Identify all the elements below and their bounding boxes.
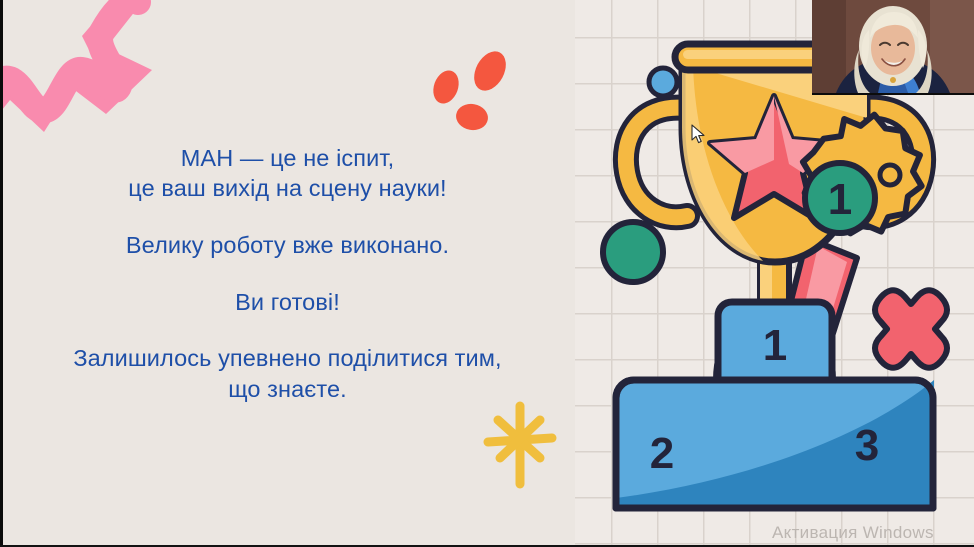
- green-circle-icon: [603, 222, 663, 282]
- slide-paragraph-4: Залишилось упевнено поділитися тим, що з…: [73, 343, 501, 404]
- slide-paragraph-1: МАН — це не іспит, це ваш вихід на сцену…: [128, 143, 446, 204]
- podium-place-1-label: 1: [763, 321, 787, 370]
- pink-squiggle-decoration: [0, 0, 176, 142]
- red-cross-icon: [875, 290, 947, 368]
- slide-paragraph-3: Ви готові!: [235, 287, 340, 318]
- podium-place-2-label: 2: [650, 429, 674, 478]
- presentation-slide: МАН — це не іспит, це ваш вихід на сцену…: [0, 0, 974, 547]
- participant-video-frame: [812, 0, 974, 93]
- orange-dot-icon: [429, 67, 463, 107]
- podium-place-3-label: 3: [855, 421, 879, 470]
- svg-text:1: 1: [828, 175, 852, 224]
- blue-dot-icon: [649, 68, 677, 96]
- participant-video-thumbnail[interactable]: [812, 0, 974, 95]
- orange-dot-icon: [468, 46, 512, 96]
- orange-dot-icon: [454, 101, 490, 132]
- slide-paragraph-2: Велику роботу вже виконано.: [126, 230, 449, 261]
- yellow-sparkle-icon: [480, 400, 560, 490]
- mouse-cursor: [691, 124, 706, 145]
- yellow-dot-icon: [880, 165, 900, 185]
- orange-dots-decoration: [428, 42, 528, 142]
- frame-edge-left: [0, 0, 3, 547]
